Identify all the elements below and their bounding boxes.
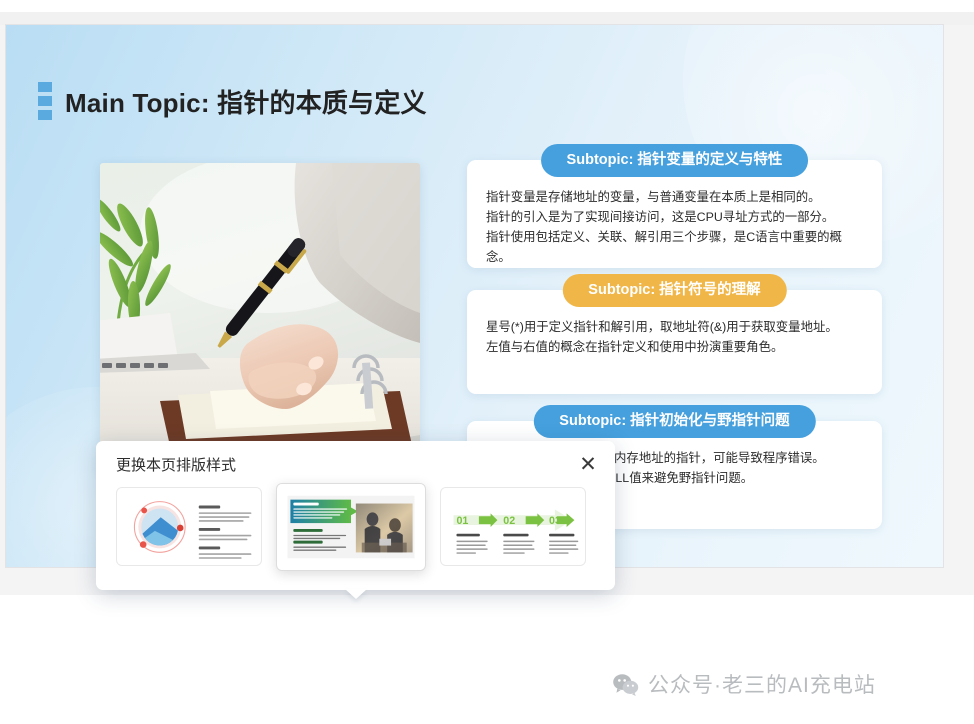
- subtopic-line: 指针的引入是为了实现间接访问，这是CPU寻址方式的一部分。: [486, 207, 863, 227]
- subtopic-pill-3: Subtopic: 指针初始化与野指针问题: [533, 405, 815, 438]
- hand-writing-photo-illustration: [100, 163, 420, 473]
- popup-header: 更换本页排版样式 ✕: [96, 441, 615, 487]
- slide-thumbnail-strip[interactable]: 3: [0, 595, 974, 724]
- subtopic-pill-1: Subtopic: 指针变量的定义与特性: [541, 144, 809, 177]
- subtopic-card-2[interactable]: Subtopic: 指针符号的理解 星号(*)用于定义指针和解引用，取地址符(&…: [467, 290, 882, 394]
- popup-title: 更换本页排版样式: [116, 454, 236, 475]
- subtopic-card-1[interactable]: Subtopic: 指针变量的定义与特性 指针变量是存储地址的变量，与普通变量在…: [467, 160, 882, 268]
- close-icon[interactable]: ✕: [575, 451, 601, 477]
- template-thumb-3: 010203: [441, 488, 585, 565]
- window-top-strip: [0, 0, 974, 12]
- subtopic-body-1: 指针变量是存储地址的变量，与普通变量在本质上是相同的。 指针的引入是为了实现间接…: [467, 160, 882, 277]
- template-option-numbered-arrow-process[interactable]: 010203: [440, 487, 586, 566]
- layout-style-popup[interactable]: 更换本页排版样式 ✕: [96, 441, 615, 590]
- subtopic-line: 指针变量是存储地址的变量，与普通变量在本质上是相同的。: [486, 187, 863, 207]
- template-option-green-gradient-text-photo[interactable]: [276, 483, 426, 571]
- hero-photo[interactable]: [100, 163, 420, 473]
- slide-title-row[interactable]: Main Topic: 指针的本质与定义: [38, 82, 427, 120]
- subtopic-line: 星号(*)用于定义指针和解引用，取地址符(&)用于获取变量地址。: [486, 317, 863, 337]
- subtopic-line: 左值与右值的概念在指针定义和使用中扮演重要角色。: [486, 337, 863, 357]
- app-root: Main Topic: 指针的本质与定义: [0, 0, 974, 724]
- three-squares-bullet-icon: [38, 82, 52, 120]
- popup-pointer-arrow: [345, 589, 367, 599]
- template-thumb-2: [277, 484, 425, 570]
- subtopic-line: 指针使用包括定义、关联、解引用三个步骤，是C语言中重要的概念。: [486, 227, 863, 267]
- template-option-circle-image-three-points[interactable]: [116, 487, 262, 566]
- toolbar-band: [0, 12, 974, 25]
- page-title: Main Topic: 指针的本质与定义: [65, 83, 427, 120]
- template-thumb-1: [117, 488, 261, 565]
- svg-text:03: 03: [549, 515, 561, 527]
- subtopic-pill-2: Subtopic: 指针符号的理解: [562, 274, 786, 307]
- svg-text:01: 01: [456, 515, 468, 527]
- template-options-row: 010203: [116, 487, 600, 571]
- svg-text:02: 02: [503, 515, 515, 527]
